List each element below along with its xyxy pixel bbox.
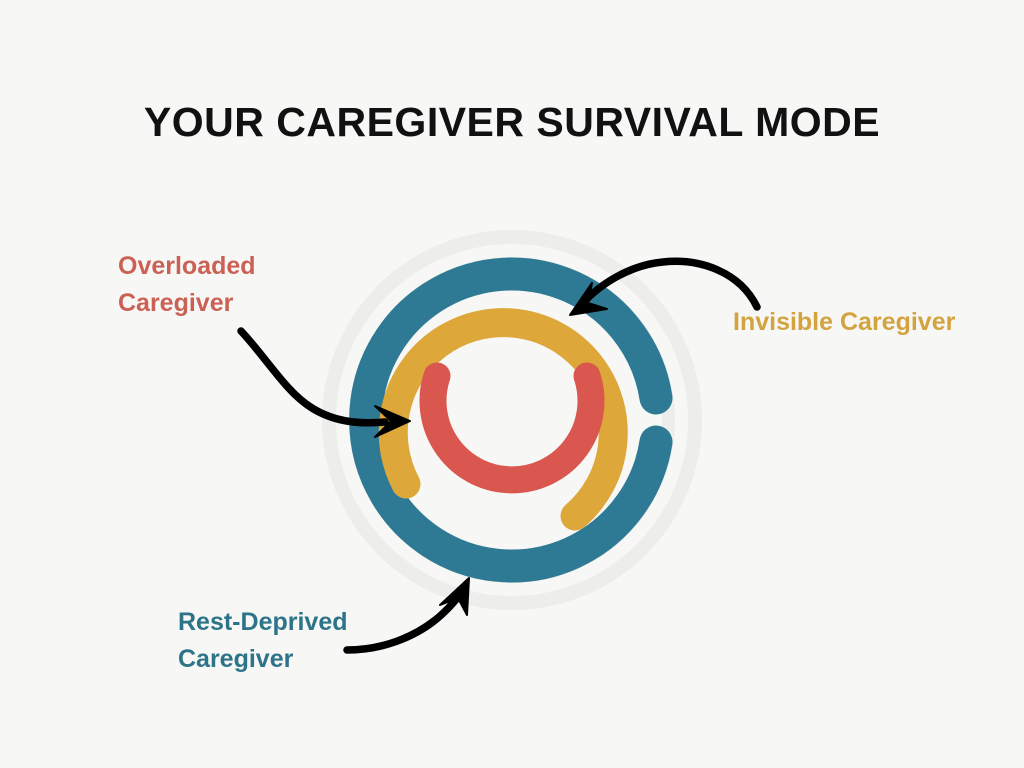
ring-diagram-svg <box>0 0 1024 768</box>
label-rest-deprived-caregiver: Rest-Deprived Caregiver <box>178 604 348 678</box>
label-invisible-caregiver: Invisible Caregiver <box>733 304 955 341</box>
infographic-canvas: YOUR CAREGIVER SURVIVAL MODE Overloaded <box>0 0 1024 768</box>
label-overloaded-caregiver: Overloaded Caregiver <box>118 248 256 322</box>
